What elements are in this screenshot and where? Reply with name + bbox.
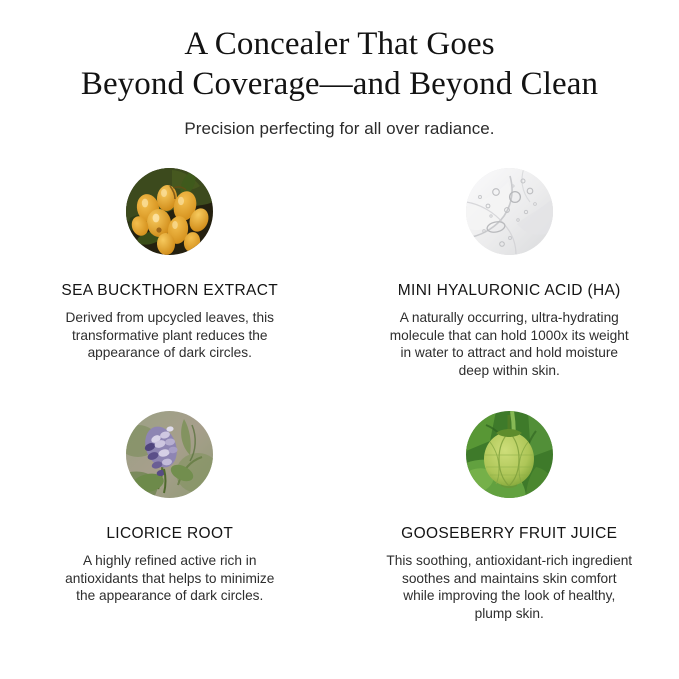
description-line: in water to attract and hold moisture — [390, 344, 629, 362]
ingredient-card-sea-buckthorn: SEA BUCKTHORN EXTRACT Derived from upcyc… — [0, 168, 340, 411]
ingredient-title: LICORICE ROOT — [106, 524, 233, 543]
description-line: A highly refined active rich in — [65, 552, 274, 570]
page-title-line-1: A Concealer That Goes — [30, 24, 650, 64]
product-ingredients-infographic: A Concealer That Goes Beyond Coverage—an… — [0, 0, 679, 679]
description-line: plump skin. — [386, 605, 632, 623]
description-line: soothes and maintains skin comfort — [386, 570, 632, 588]
hyaluronic-acid-gel-image — [466, 168, 553, 255]
sea-buckthorn-berries-image — [126, 168, 213, 255]
header: A Concealer That Goes Beyond Coverage—an… — [0, 0, 679, 140]
description-line: while improving the look of healthy, — [386, 587, 632, 605]
description-line: A naturally occurring, ultra-hydrating — [390, 309, 629, 327]
ingredient-title: MINI HYALURONIC ACID (HA) — [398, 281, 621, 300]
description-line: molecule that can hold 1000x its weight — [390, 327, 629, 345]
description-line: appearance of dark circles. — [66, 344, 274, 362]
ingredient-description: Derived from upcycled leaves, this trans… — [66, 309, 274, 362]
ingredient-title: SEA BUCKTHORN EXTRACT — [61, 281, 278, 300]
description-line: This soothing, antioxidant-rich ingredie… — [386, 552, 632, 570]
gooseberry-fruit-image — [466, 411, 553, 498]
ingredient-title: GOOSEBERRY FRUIT JUICE — [401, 524, 617, 543]
ingredient-description: This soothing, antioxidant-rich ingredie… — [386, 552, 632, 622]
ingredient-description: A highly refined active rich in antioxid… — [65, 552, 274, 605]
ingredient-card-hyaluronic-acid: MINI HYALURONIC ACID (HA) A naturally oc… — [340, 168, 679, 411]
description-line: the appearance of dark circles. — [65, 587, 274, 605]
description-line: transformative plant reduces the — [66, 327, 274, 345]
ingredient-card-licorice-root: LICORICE ROOT A highly refined active ri… — [0, 411, 340, 622]
description-line: deep within skin. — [390, 362, 629, 380]
page-subtitle: Precision perfecting for all over radian… — [0, 118, 679, 140]
page-title: A Concealer That Goes Beyond Coverage—an… — [30, 24, 650, 104]
page-title-line-2: Beyond Coverage—and Beyond Clean — [30, 64, 650, 104]
description-line: Derived from upcycled leaves, this — [66, 309, 274, 327]
licorice-flower-image — [126, 411, 213, 498]
ingredient-description: A naturally occurring, ultra-hydrating m… — [390, 309, 629, 379]
ingredients-grid: SEA BUCKTHORN EXTRACT Derived from upcyc… — [0, 168, 679, 622]
description-line: antioxidants that helps to minimize — [65, 570, 274, 588]
ingredient-card-gooseberry: GOOSEBERRY FRUIT JUICE This soothing, an… — [340, 411, 679, 622]
